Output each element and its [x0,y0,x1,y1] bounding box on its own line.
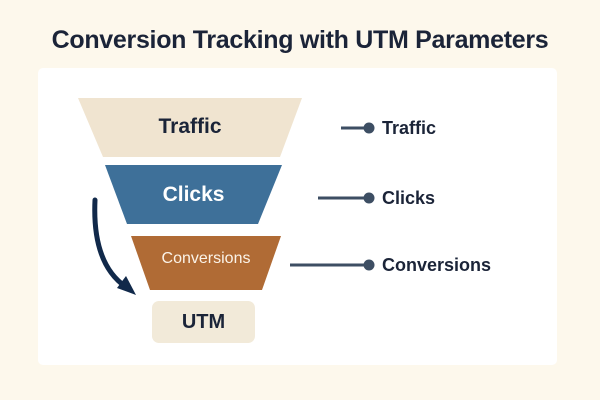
page-title: Conversion Tracking with UTM Parameters [0,26,600,55]
legend-item-label: Conversions [382,255,491,276]
legend-item-conversions: Conversions [382,253,491,277]
diagram-card [38,68,557,365]
legend-item-label: Clicks [382,188,435,209]
utm-label: UTM [152,311,255,334]
legend-item-label: Traffic [382,118,436,139]
legend-item-traffic: Traffic [382,116,436,140]
legend-item-clicks: Clicks [382,186,435,210]
diagram-root: Conversion Tracking with UTM Parameters … [0,0,600,400]
